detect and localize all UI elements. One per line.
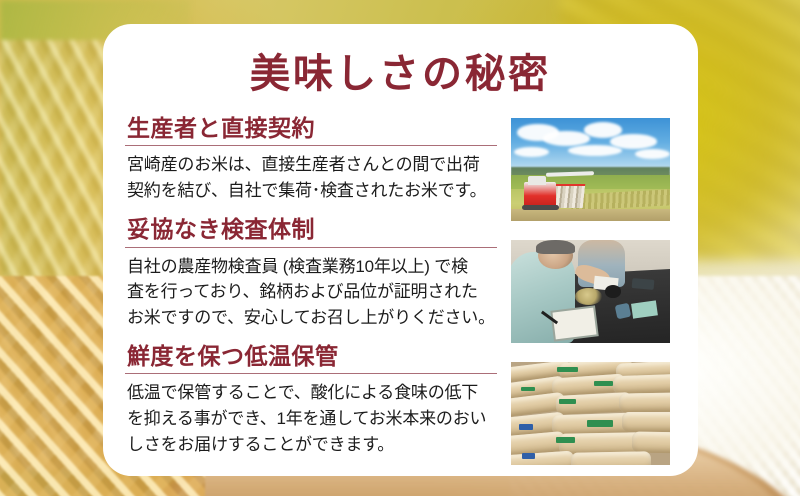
photo-rice-sack bbox=[622, 412, 670, 432]
photo-column: 赤い色のコンバインが青空の下で稲刈りをしている水田の写真 bbox=[511, 116, 670, 465]
photo-harvester-body bbox=[524, 182, 556, 207]
photo-rice-sack bbox=[571, 451, 651, 465]
photo-sample-cup bbox=[605, 285, 621, 297]
section-heading: 鮮度を保つ低温保管 bbox=[125, 344, 497, 370]
section-producer-contract: 生産者と直接契約 宮崎産のお米は、直接生産者さんとの間で出荷 契約を結び、自社で… bbox=[125, 116, 497, 204]
content-card: 美味しさの秘密 生産者と直接契約 宮崎産のお米は、直接生産者さんとの間で出荷 契… bbox=[103, 24, 698, 476]
section-inspection-system: 妥協なき検査体制 自社の農産物検査員 (検査業務10年以上) で検 査を行ってお… bbox=[125, 217, 497, 331]
section-cold-storage: 鮮度を保つ低温保管 低温で保管することで、酸化による食味の低下 を抑える事ができ… bbox=[125, 344, 497, 458]
photo-green-tray bbox=[631, 300, 658, 319]
photo-rice-sack bbox=[632, 432, 670, 454]
section-divider bbox=[125, 145, 497, 146]
text-column: 生産者と直接契約 宮崎産のお米は、直接生産者さんとの間で出荷 契約を結び、自社で… bbox=[125, 116, 497, 465]
sections-area: 生産者と直接契約 宮崎産のお米は、直接生産者さんとの間で出荷 契約を結び、自社で… bbox=[103, 116, 698, 465]
page-title: 美味しさの秘密 bbox=[103, 54, 698, 94]
photo-sack-label bbox=[519, 424, 533, 430]
photo-sack-label bbox=[587, 420, 612, 427]
section-divider bbox=[125, 247, 497, 248]
photo-sack-label bbox=[556, 437, 575, 443]
section-divider bbox=[125, 373, 497, 374]
rice-inspectors-at-table-photo: 作業服を着た農産物検査員が黒い机で米を検査している写真 bbox=[511, 240, 670, 343]
photo-rice-sack bbox=[612, 374, 670, 394]
combine-harvester-in-rice-field-photo: 赤い色のコンバインが青空の下で稲刈りをしている水田の写真 bbox=[511, 118, 670, 221]
photo-rice-sample-dish bbox=[575, 288, 602, 304]
section-heading: 妥協なき検査体制 bbox=[125, 217, 497, 243]
photo-sack-label bbox=[559, 399, 576, 404]
section-body: 宮崎産のお米は、直接生産者さんとの間で出荷 契約を結び、自社で集荷･検査されたお… bbox=[125, 152, 497, 204]
stacked-rice-sacks-warehouse-photo: 緑のラベルが付いた米袋が倉庫に積み重ねられている写真 bbox=[511, 362, 670, 465]
photo-cloud bbox=[543, 131, 591, 145]
section-body: 低温で保管することで、酸化による食味の低下 を抑える事ができ、1年を通してお米本… bbox=[125, 380, 497, 457]
photo-main-inspector-hair bbox=[536, 240, 574, 254]
photo-inspection-record bbox=[552, 308, 596, 340]
section-body: 自社の農産物検査員 (検査業務10年以上) で検 査を行っており、銘柄および品位… bbox=[125, 254, 497, 331]
photo-cloud bbox=[568, 145, 622, 156]
photo-sack-label bbox=[521, 387, 535, 391]
photo-harvester-track bbox=[522, 205, 559, 210]
photo-farm-road bbox=[511, 209, 670, 221]
photo-sack-label bbox=[557, 367, 578, 372]
photo-rice-sack bbox=[619, 392, 670, 412]
section-heading: 生産者と直接契約 bbox=[125, 116, 497, 142]
photo-sack-label bbox=[522, 453, 535, 459]
photo-harvester-cab bbox=[528, 176, 545, 185]
promo-banner: 美味しさの秘密 生産者と直接契約 宮崎産のお米は、直接生産者さんとの間で出荷 契… bbox=[0, 0, 800, 496]
photo-sack-label bbox=[594, 381, 613, 386]
